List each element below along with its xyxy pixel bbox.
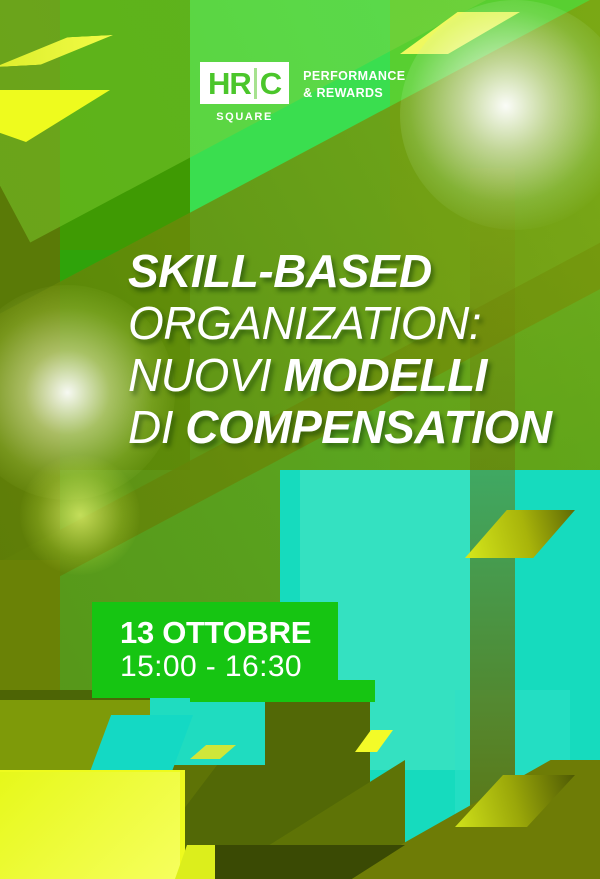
event-date: 13 OTTOBRE — [120, 616, 338, 650]
background-olive-left-lower — [0, 560, 60, 700]
title-line-1: SKILL-BASED — [128, 248, 598, 294]
logo-tagline: PERFORMANCE & REWARDS — [303, 68, 405, 102]
logo-tagline-line-2: & REWARDS — [303, 85, 405, 102]
hrc-logo-text-c: C — [260, 68, 281, 99]
title-line-4-light: DI — [128, 401, 185, 453]
title-line-2: ORGANIZATION: — [128, 300, 598, 346]
background-olive-wedge-1 — [130, 690, 370, 879]
hrc-logo-box: HR C — [200, 62, 289, 104]
background-cyan-panel-soft-2 — [455, 690, 570, 879]
title-line-3-light: NUOVI — [128, 349, 283, 401]
background-yellow-block — [0, 770, 185, 879]
background-yellow-chevron-3 — [400, 12, 520, 54]
hrc-logo-text-hr: HR — [208, 68, 251, 99]
title-line-3-bold: MODELLI — [283, 349, 486, 401]
background-yellow-stripe-right — [465, 510, 575, 558]
logo-mark-group: HR C SQUARE — [200, 62, 289, 123]
background-yellow-dart — [355, 730, 393, 752]
background-olive-wedge-2 — [340, 760, 600, 879]
background-yellow-block-shine — [0, 772, 180, 879]
event-date-box: 13 OTTOBRE 15:00 - 16:30 — [92, 602, 338, 698]
background-cyan-parallelogram — [88, 715, 193, 777]
brand-logo: HR C SQUARE PERFORMANCE & REWARDS — [200, 62, 406, 123]
background-band-olive-left — [0, 0, 60, 560]
logo-subtitle: SQUARE — [216, 111, 273, 123]
background-yellow-chevron-2 — [0, 90, 110, 142]
background-glow-top-right — [400, 0, 600, 230]
background-yellow-nub — [175, 845, 215, 879]
title-line-4: DI COMPENSATION — [128, 404, 598, 450]
event-poster: HR C SQUARE PERFORMANCE & REWARDS SKILL-… — [0, 0, 600, 879]
background-yellow-chevron-1 — [0, 35, 115, 67]
background-glow-small — [20, 455, 140, 575]
title-line-4-bold: COMPENSATION — [185, 401, 551, 453]
hrc-logo-divider — [254, 68, 257, 99]
background-olive-triangle — [215, 760, 405, 879]
background-band-bright-green — [60, 0, 190, 250]
background-olive-block-1 — [0, 700, 250, 772]
logo-tagline-line-1: PERFORMANCE — [303, 68, 405, 85]
title-line-3: NUOVI MODELLI — [128, 352, 598, 398]
page-title: SKILL-BASED ORGANIZATION: NUOVI MODELLI … — [128, 248, 598, 456]
background-cyan-strip — [150, 690, 265, 765]
background-yellow-stripe-bottom — [455, 775, 575, 827]
event-time: 15:00 - 16:30 — [120, 650, 338, 685]
background-olive-block-2 — [160, 690, 360, 879]
background-dark-triangle — [215, 845, 405, 879]
background-yellow-sliver — [190, 745, 236, 759]
